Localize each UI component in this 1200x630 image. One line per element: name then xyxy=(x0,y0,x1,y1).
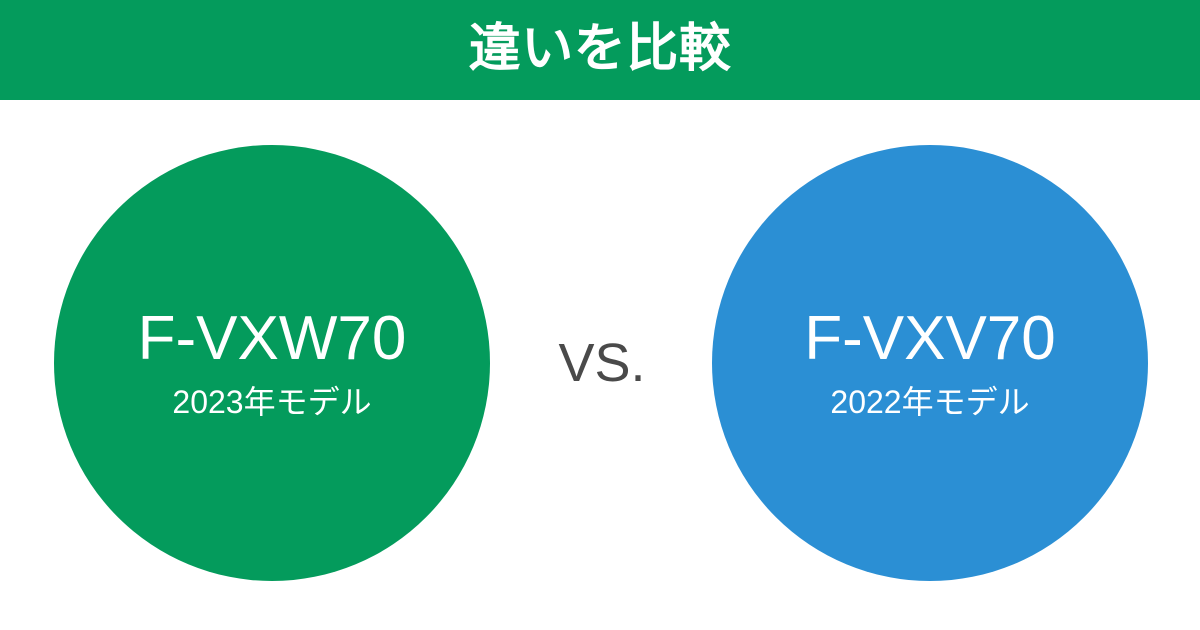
comparison-row: F-VXW70 2023年モデル VS. F-VXV70 2022年モデル xyxy=(0,100,1200,630)
header-banner: 違いを比較 xyxy=(0,0,1200,100)
comparison-graphic: 違いを比較 F-VXW70 2023年モデル VS. F-VXV70 2022年… xyxy=(0,0,1200,630)
product-circle-right: F-VXV70 2022年モデル xyxy=(712,145,1148,581)
vs-label: VS. xyxy=(558,336,645,390)
model-name-left: F-VXW70 xyxy=(138,306,407,371)
model-year-left: 2023年モデル xyxy=(172,385,371,420)
vs-divider: VS. xyxy=(500,145,700,581)
model-name-right: F-VXV70 xyxy=(804,306,1056,371)
product-circle-left: F-VXW70 2023年モデル xyxy=(54,145,490,581)
model-year-right: 2022年モデル xyxy=(830,385,1029,420)
page-title: 違いを比較 xyxy=(469,23,732,75)
